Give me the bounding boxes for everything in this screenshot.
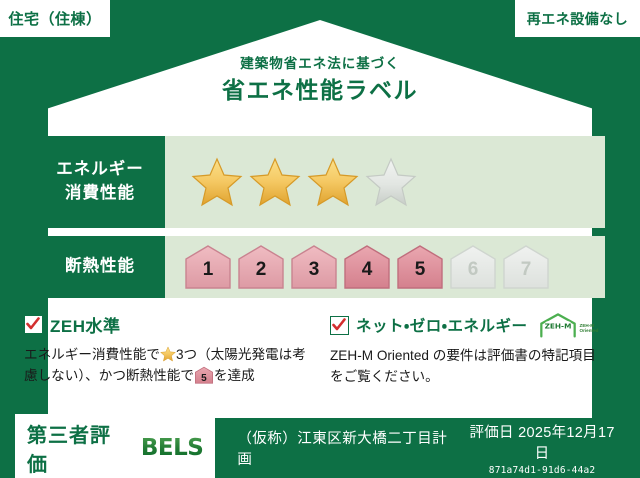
building-name: （仮称）江東区新大橋二丁目計画	[237, 427, 462, 469]
renewable-energy-tag-label: 再エネ設備なし	[527, 9, 629, 29]
insulation-performance-panel: 断熱性能 1 2 3	[35, 236, 605, 298]
energy-consumption-panel: エネルギー 消費性能	[35, 136, 605, 228]
insulation-level-chip: 6	[448, 244, 498, 290]
nzeb-criteria-column: ネット・ゼロ・エネルギー ZEH-M ZEH-M Oriented ZEH-M …	[320, 312, 616, 400]
zeh-criteria-body: エネルギー消費性能で 3つ（太陽光発電は考慮しない）、かつ断熱性能で 5 を達成	[24, 344, 310, 387]
energy-performance-label: 住宅（住棟） 再エネ設備なし 建築物省エネ法に基づく 省エネ性能ラベル エネルギ…	[0, 0, 640, 478]
bels-badge-en-label: BELS	[141, 435, 203, 461]
insulation-performance-label-text: 断熱性能	[65, 255, 135, 279]
zeh-m-logo: ZEH-M ZEH-M Oriented	[538, 312, 599, 338]
star-filled-icon	[249, 157, 301, 207]
zeh-criteria-title: ZEH水準	[50, 312, 121, 337]
label-footer: 第三者評価 BELS （仮称）江東区新大橋二丁目計画 評価日 2025年12月1…	[0, 418, 640, 478]
insulation-level-chip: 3	[289, 244, 339, 290]
evaluation-info: 評価日 2025年12月17日 871a74d1-91d6-44a2	[462, 421, 622, 476]
insulation-level-number: 2	[256, 259, 267, 290]
inline-house-value: 5	[194, 374, 214, 384]
nzeb-criteria-header: ネット・ゼロ・エネルギー ZEH-M ZEH-M Oriented	[330, 312, 606, 338]
insulation-level-chip: 7	[501, 244, 551, 290]
zeh-m-logo-caption: ZEH-M Oriented	[580, 323, 599, 338]
star-filled-icon	[307, 157, 359, 207]
insulation-level-number: 1	[203, 259, 214, 290]
insulation-level-number: 3	[309, 259, 320, 290]
energy-star-rating	[165, 136, 605, 228]
zeh-body-part3: を達成	[214, 368, 255, 383]
star-filled-icon	[191, 157, 243, 207]
insulation-level-scale: 1 2 3 4 5	[165, 236, 605, 298]
nzeb-criteria-body: ZEH-M Oriented の要件は評価書の特記項目をご覧ください。	[330, 345, 606, 388]
energy-consumption-label-line2: 消費性能	[65, 182, 135, 206]
insulation-level-chip: 2	[236, 244, 286, 290]
energy-consumption-label: エネルギー 消費性能	[35, 136, 165, 228]
insulation-performance-label: 断熱性能	[35, 236, 165, 298]
building-type-tag: 住宅（住棟）	[0, 0, 110, 37]
zeh-body-part1: エネルギー消費性能で	[24, 347, 160, 362]
check-icon	[331, 317, 347, 333]
inline-star-icon	[160, 346, 176, 362]
nzeb-criteria-title: ネット・ゼロ・エネルギー	[356, 314, 528, 336]
zeh-m-house-icon: ZEH-M	[538, 312, 578, 338]
bels-badge: 第三者評価 BELS	[15, 414, 215, 478]
label-title: 省エネ性能ラベル	[0, 75, 640, 106]
insulation-level-chip: 4	[342, 244, 392, 290]
check-icon	[25, 316, 41, 332]
bels-badge-jp-label: 第三者評価	[27, 419, 132, 477]
building-type-tag-label: 住宅（住棟）	[8, 8, 101, 29]
insulation-level-chip: 1	[183, 244, 233, 290]
label-title-block: 建築物省エネ法に基づく 省エネ性能ラベル	[0, 56, 640, 106]
insulation-level-number: 5	[415, 259, 426, 290]
evaluation-date: 評価日 2025年12月17日	[462, 421, 622, 463]
insulation-level-number: 6	[468, 259, 479, 290]
zeh-criteria-column: ZEH水準 エネルギー消費性能で 3つ（太陽光発電は考慮しない）、かつ断熱性能で…	[24, 312, 320, 400]
criteria-section: ZEH水準 エネルギー消費性能で 3つ（太陽光発電は考慮しない）、かつ断熱性能で…	[24, 312, 616, 400]
zeh-checkbox[interactable]	[24, 315, 43, 334]
insulation-level-number: 4	[362, 259, 373, 290]
nzeb-checkbox[interactable]	[330, 316, 349, 335]
insulation-level-number: 7	[521, 259, 532, 290]
zeh-m-caption-line2: Oriented	[580, 328, 599, 333]
star-empty-icon	[365, 157, 417, 207]
zeh-criteria-header: ZEH水準	[24, 312, 310, 337]
energy-consumption-label-line1: エネルギー	[56, 158, 144, 182]
inline-house-icon: 5	[194, 366, 214, 384]
renewable-energy-tag: 再エネ設備なし	[515, 0, 640, 37]
zeh-m-caption-line1: ZEH-M	[580, 323, 595, 328]
reference-id: 871a74d1-91d6-44a2	[462, 465, 622, 476]
insulation-level-chip: 5	[395, 244, 445, 290]
zeh-m-logo-text: ZEH-M	[544, 322, 571, 331]
label-subtitle: 建築物省エネ法に基づく	[0, 56, 640, 72]
